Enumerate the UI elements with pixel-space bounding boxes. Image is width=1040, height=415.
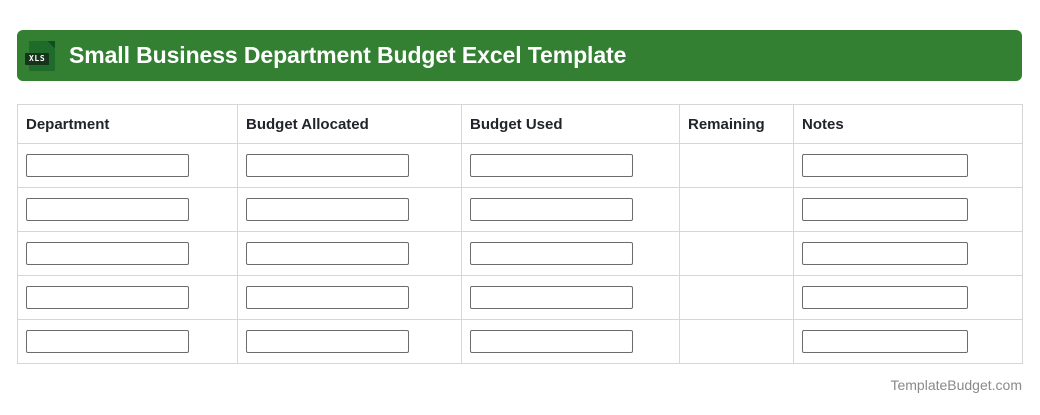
- table-row: [18, 320, 1023, 364]
- table-cell-budget-allocated: [238, 320, 462, 364]
- table-cell-budget-allocated: [238, 276, 462, 320]
- table-cell-budget-used: [462, 232, 680, 276]
- table-header: Department Budget Allocated Budget Used …: [18, 105, 1023, 144]
- budget-allocated-input[interactable]: [246, 154, 409, 177]
- table-cell-department: [18, 320, 238, 364]
- table-row: [18, 188, 1023, 232]
- table-cell-department: [18, 144, 238, 188]
- column-header-remaining: Remaining: [680, 105, 794, 144]
- table-cell-budget-used: [462, 276, 680, 320]
- table-row: [18, 232, 1023, 276]
- template-title-bar: XLS Small Business Department Budget Exc…: [17, 30, 1022, 81]
- column-header-budget-used: Budget Used: [462, 105, 680, 144]
- table-row: [18, 276, 1023, 320]
- budget-allocated-input[interactable]: [246, 242, 409, 265]
- table-cell-department: [18, 188, 238, 232]
- notes-input[interactable]: [802, 242, 968, 265]
- table-cell-budget-allocated: [238, 232, 462, 276]
- table-cell-notes: [794, 144, 1023, 188]
- table-cell-remaining: [680, 276, 794, 320]
- department-input[interactable]: [26, 330, 189, 353]
- table-cell-notes: [794, 232, 1023, 276]
- column-header-budget-allocated: Budget Allocated: [238, 105, 462, 144]
- budget-allocated-input[interactable]: [246, 330, 409, 353]
- column-header-notes: Notes: [794, 105, 1023, 144]
- table-cell-notes: [794, 320, 1023, 364]
- notes-input[interactable]: [802, 286, 968, 309]
- budget-used-input[interactable]: [470, 330, 633, 353]
- table-header-row: Department Budget Allocated Budget Used …: [18, 105, 1023, 144]
- column-header-department: Department: [18, 105, 238, 144]
- budget-used-input[interactable]: [470, 242, 633, 265]
- table-cell-budget-used: [462, 320, 680, 364]
- table-cell-notes: [794, 276, 1023, 320]
- table-cell-remaining: [680, 188, 794, 232]
- budget-used-input[interactable]: [470, 198, 633, 221]
- table-cell-budget-allocated: [238, 188, 462, 232]
- department-input[interactable]: [26, 286, 189, 309]
- xls-file-icon-label: XLS: [25, 53, 49, 65]
- notes-input[interactable]: [802, 330, 968, 353]
- table-body: [18, 144, 1023, 364]
- table-cell-department: [18, 276, 238, 320]
- notes-input[interactable]: [802, 154, 968, 177]
- table-cell-budget-used: [462, 144, 680, 188]
- xls-file-icon: XLS: [29, 41, 55, 71]
- table-cell-notes: [794, 188, 1023, 232]
- table-row: [18, 144, 1023, 188]
- department-input[interactable]: [26, 154, 189, 177]
- table-cell-budget-allocated: [238, 144, 462, 188]
- site-credit: TemplateBudget.com: [890, 377, 1022, 393]
- budget-used-input[interactable]: [470, 154, 633, 177]
- budget-template-page: XLS Small Business Department Budget Exc…: [0, 0, 1040, 415]
- department-input[interactable]: [26, 198, 189, 221]
- table-cell-budget-used: [462, 188, 680, 232]
- table-cell-remaining: [680, 144, 794, 188]
- department-input[interactable]: [26, 242, 189, 265]
- budget-allocated-input[interactable]: [246, 198, 409, 221]
- budget-allocated-input[interactable]: [246, 286, 409, 309]
- budget-used-input[interactable]: [470, 286, 633, 309]
- table-cell-department: [18, 232, 238, 276]
- table-cell-remaining: [680, 320, 794, 364]
- notes-input[interactable]: [802, 198, 968, 221]
- page-title: Small Business Department Budget Excel T…: [69, 42, 626, 69]
- table-cell-remaining: [680, 232, 794, 276]
- department-budget-table: Department Budget Allocated Budget Used …: [17, 104, 1023, 364]
